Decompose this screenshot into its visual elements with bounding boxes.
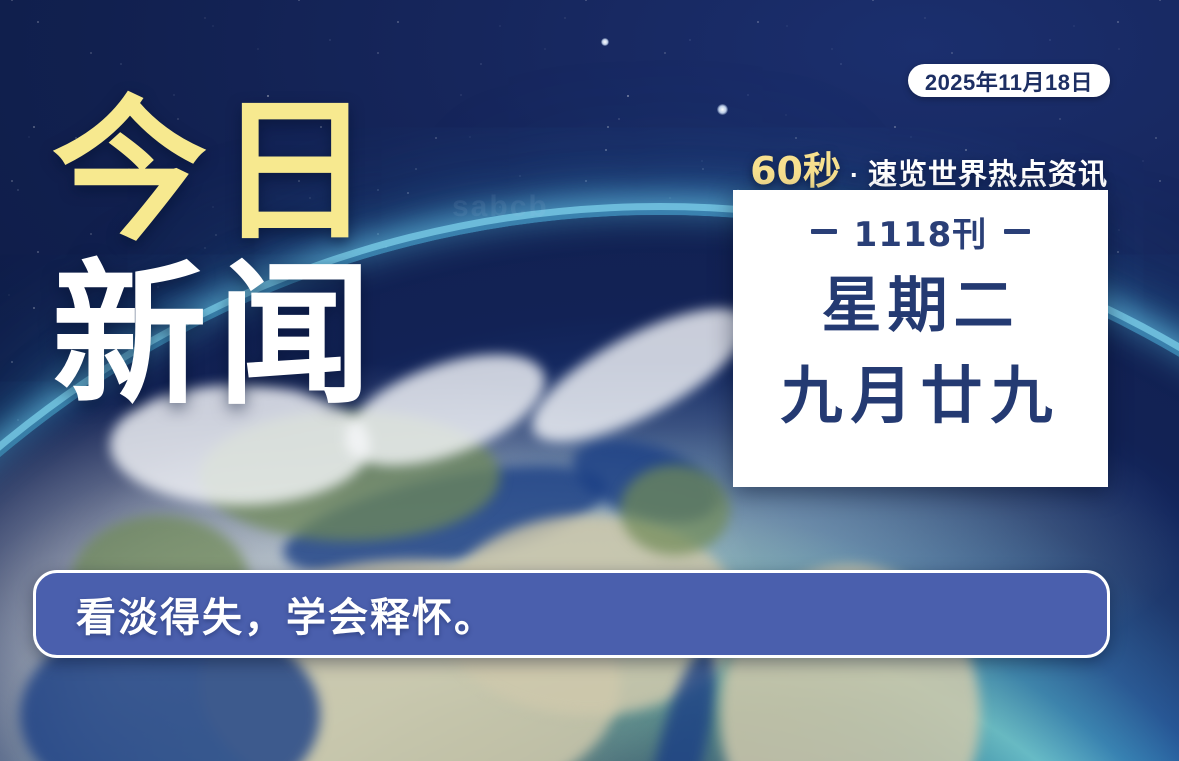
poster-title: 今日 新闻 xyxy=(52,96,482,412)
tagline: 60秒 · 速览世界热点资讯 xyxy=(750,140,1108,195)
dash-right-icon xyxy=(1004,229,1030,234)
tagline-separator: · xyxy=(845,160,864,191)
title-line-news: 新闻 xyxy=(52,260,482,412)
date-badge: 2025年11月18日 xyxy=(908,64,1110,97)
tagline-text: 速览世界热点资讯 xyxy=(868,151,1108,193)
title-line-today: 今日 xyxy=(52,96,482,248)
issue-row: 1118刊 xyxy=(811,207,1031,256)
bright-star xyxy=(601,38,609,46)
issue-info-card: 1118刊 星期二 九月廿九 xyxy=(733,190,1108,487)
issue-number: 1118刊 xyxy=(854,207,988,256)
tagline-seconds: 60秒 xyxy=(750,140,841,195)
quote-banner: 看淡得失，学会释怀。 xyxy=(33,570,1110,658)
weekday-label: 星期二 xyxy=(822,276,1020,336)
dash-left-icon xyxy=(811,229,837,234)
lunar-date-label: 九月廿九 xyxy=(780,366,1060,428)
date-badge-label: 2025年11月18日 xyxy=(925,65,1093,97)
quote-text: 看淡得失，学会释怀。 xyxy=(76,585,496,643)
bright-star xyxy=(717,104,728,115)
news-poster: sabcb 今日 新闻 2025年11月18日 60秒 · 速览世界热点资讯 1… xyxy=(0,0,1179,761)
